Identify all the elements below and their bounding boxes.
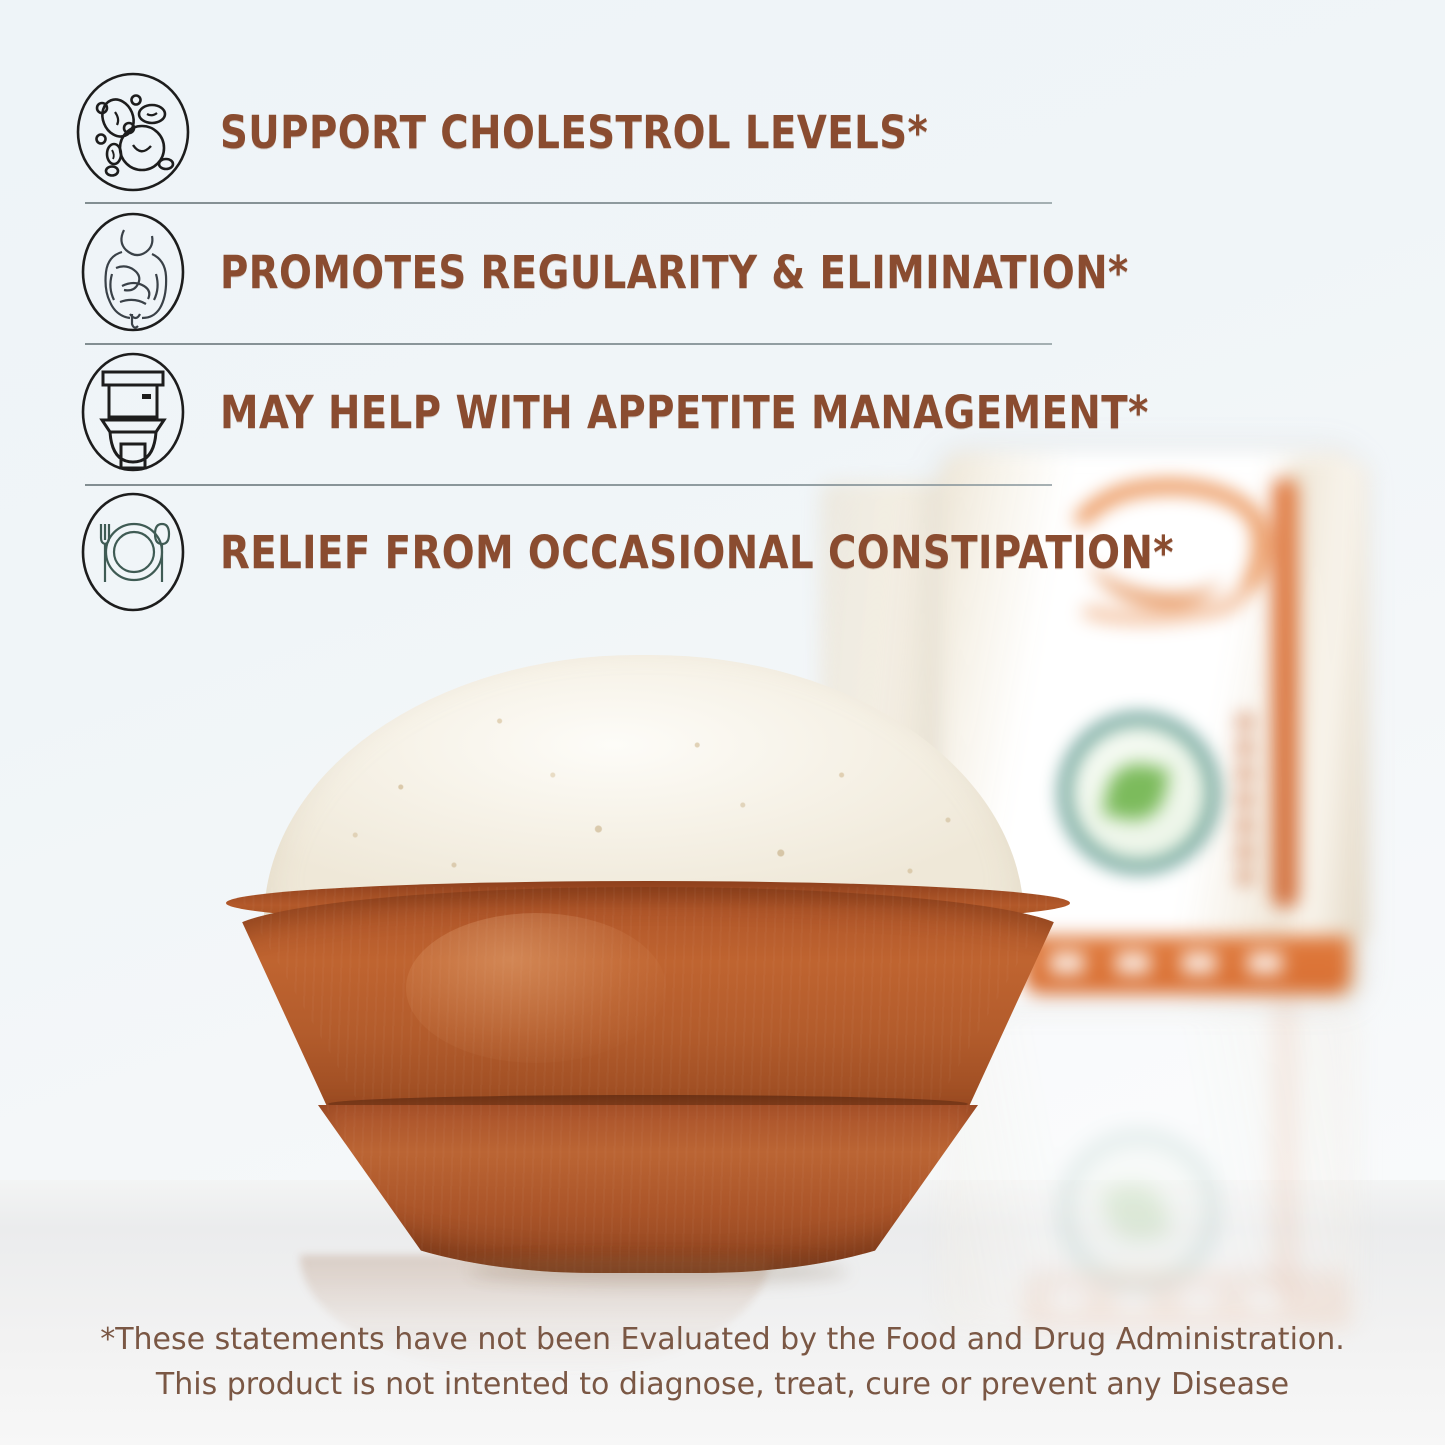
jar-orange-stripe bbox=[1272, 478, 1298, 908]
jar-leaf-icon bbox=[1102, 758, 1171, 827]
plate-cutlery-icon bbox=[74, 490, 192, 614]
infographic-canvas: SUPPORT CHOLESTROL LEVELS* bbox=[0, 0, 1445, 1445]
jar-label-text-block bbox=[1238, 714, 1252, 884]
bowl-upper-wall bbox=[226, 887, 1070, 1107]
psyllium-bowl bbox=[218, 655, 1078, 1275]
wooden-bowl bbox=[218, 887, 1078, 1277]
fda-disclaimer: *These statements have not been Evaluate… bbox=[0, 1317, 1445, 1407]
jar-certification-badge bbox=[1060, 714, 1218, 872]
benefits-list: SUPPORT CHOLESTROL LEVELS* bbox=[0, 62, 1100, 622]
product-jar-reflection bbox=[940, 1000, 1360, 1330]
disclaimer-line-1: *These statements have not been Evaluate… bbox=[0, 1317, 1445, 1362]
bowl-base-grain bbox=[318, 1105, 978, 1273]
cholesterol-cells-icon bbox=[74, 70, 192, 194]
benefit-label-cholesterol: SUPPORT CHOLESTROL LEVELS* bbox=[220, 110, 928, 155]
bowl-highlight bbox=[406, 913, 666, 1063]
bowl-base bbox=[318, 1105, 978, 1273]
toilet-icon bbox=[74, 350, 192, 474]
bowl-wood-grain bbox=[226, 887, 1070, 1107]
bowl-contact-shadow bbox=[468, 1259, 848, 1285]
jar-leaf-reflection bbox=[1102, 1178, 1171, 1247]
benefit-label-regularity: PROMOTES REGULARITY & ELIMINATION* bbox=[220, 250, 1129, 295]
benefit-row-regularity: PROMOTES REGULARITY & ELIMINATION* bbox=[0, 202, 1100, 342]
benefit-row-constipation: RELIEF FROM OCCASIONAL CONSTIPATION* bbox=[0, 482, 1100, 622]
jar-body-reflection bbox=[940, 1000, 1360, 1330]
psyllium-husk-powder bbox=[264, 655, 1024, 955]
benefit-row-appetite: MAY HELP WITH APPETITE MANAGEMENT* bbox=[0, 342, 1100, 482]
jar-orange-edge-reflection bbox=[1272, 874, 1298, 1304]
benefit-label-constipation: RELIEF FROM OCCASIONAL CONSTIPATION* bbox=[220, 530, 1174, 575]
bowl-center-groove bbox=[328, 1095, 968, 1113]
disclaimer-line-2: This product is not intented to diagnose… bbox=[0, 1362, 1445, 1407]
jar-bottom-band bbox=[1024, 936, 1350, 994]
jar-badge-reflection bbox=[1060, 1132, 1218, 1290]
benefit-label-appetite: MAY HELP WITH APPETITE MANAGEMENT* bbox=[220, 390, 1149, 435]
jar-right-edge bbox=[1288, 462, 1368, 942]
benefit-row-cholesterol: SUPPORT CHOLESTROL LEVELS* bbox=[0, 62, 1100, 202]
digestive-system-icon bbox=[74, 210, 192, 334]
bowl-rim bbox=[226, 881, 1070, 925]
